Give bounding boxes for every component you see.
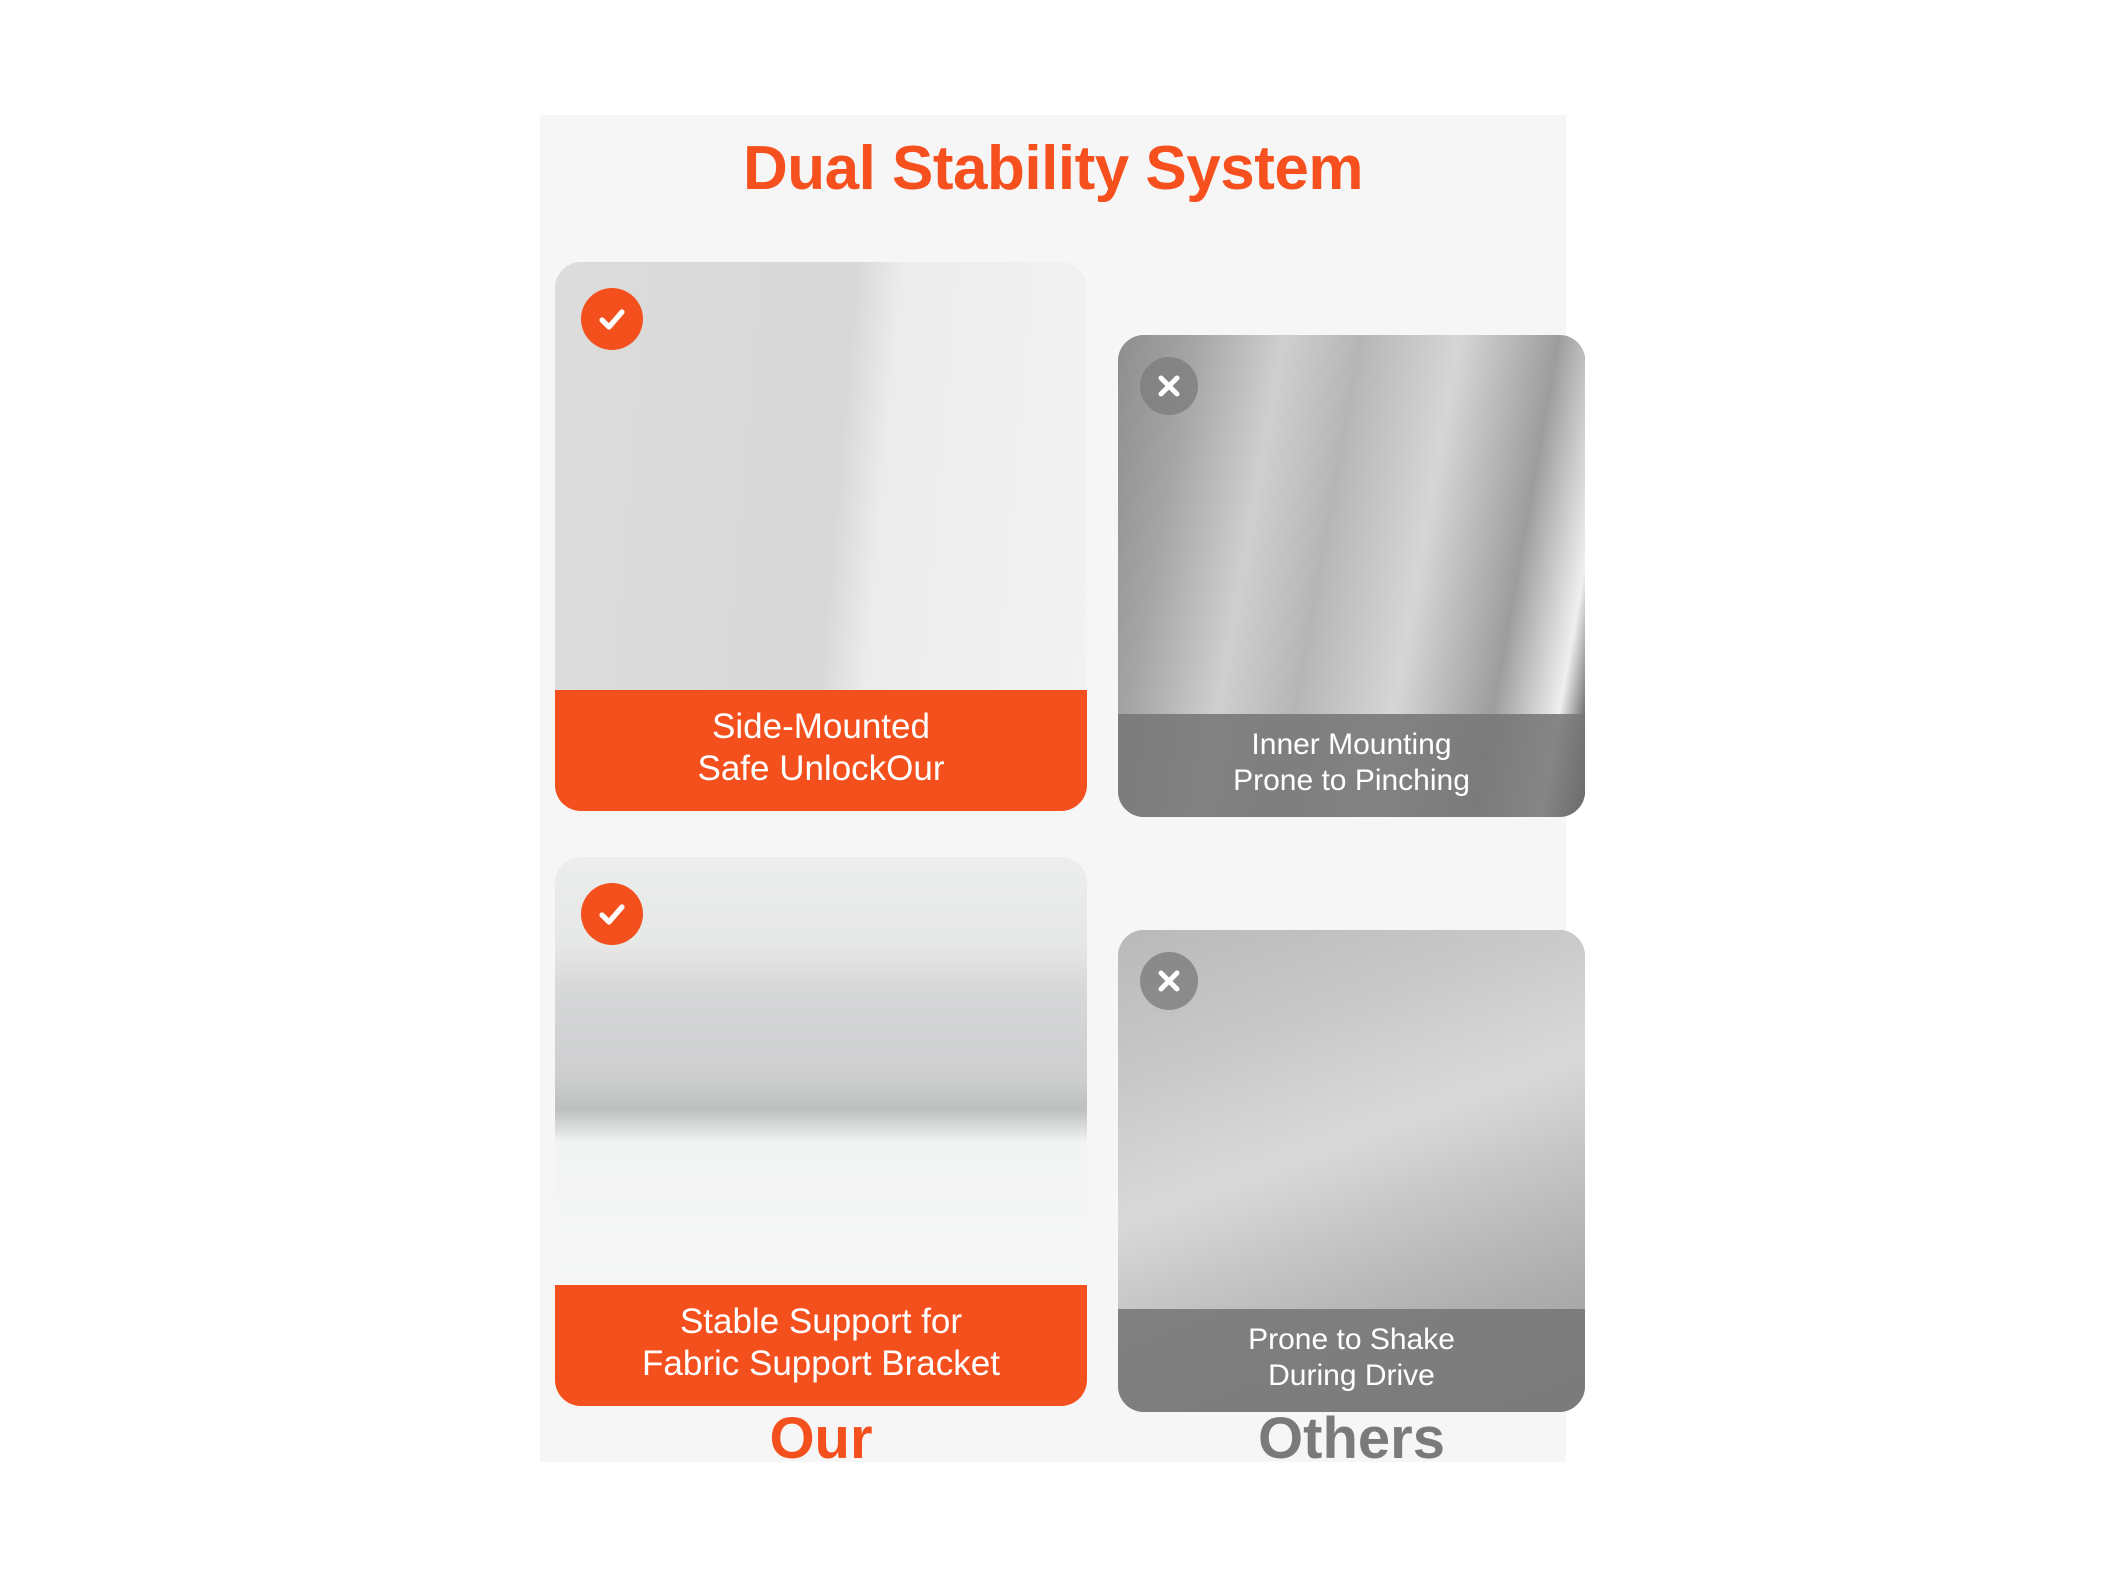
others-card-inner-mounting[interactable]: Inner Mounting Prone to Pinching xyxy=(1118,335,1585,817)
our-card-2-caption: Stable Support for Fabric Support Bracke… xyxy=(555,1285,1087,1406)
others-column-label: Others xyxy=(1118,1410,1585,1468)
caption-line-1: Side-Mounted xyxy=(565,706,1077,747)
x-icon xyxy=(1140,357,1198,415)
others-card-2-caption: Prone to Shake During Drive xyxy=(1118,1309,1585,1412)
x-icon xyxy=(1140,952,1198,1010)
caption-line-1: Prone to Shake xyxy=(1128,1322,1575,1357)
caption-line-1: Stable Support for xyxy=(565,1301,1077,1342)
our-card-side-mounted[interactable]: Side-Mounted Safe UnlockOur xyxy=(555,262,1087,811)
screenshot-root: Dual Stability System xyxy=(0,0,2113,1584)
our-card-1-caption: Side-Mounted Safe UnlockOur xyxy=(555,690,1087,811)
caption-line-2: Prone to Pinching xyxy=(1128,763,1575,798)
caption-line-1: Inner Mounting xyxy=(1128,727,1575,762)
others-card-prone-to-shake[interactable]: Prone to Shake During Drive xyxy=(1118,930,1585,1412)
our-card-fabric-support[interactable]: Stable Support for Fabric Support Bracke… xyxy=(555,857,1087,1406)
our-column-label: Our xyxy=(555,1410,1087,1468)
caption-line-2: Safe UnlockOur xyxy=(565,748,1077,789)
column-labels: Our Others xyxy=(540,1398,1566,1468)
caption-line-2: During Drive xyxy=(1128,1358,1575,1393)
caption-line-2: Fabric Support Bracket xyxy=(565,1343,1077,1384)
check-icon xyxy=(581,288,643,350)
page-title: Dual Stability System xyxy=(540,133,1566,204)
check-icon xyxy=(581,883,643,945)
others-card-1-caption: Inner Mounting Prone to Pinching xyxy=(1118,714,1585,817)
comparison-panel: Dual Stability System xyxy=(540,115,1566,1462)
